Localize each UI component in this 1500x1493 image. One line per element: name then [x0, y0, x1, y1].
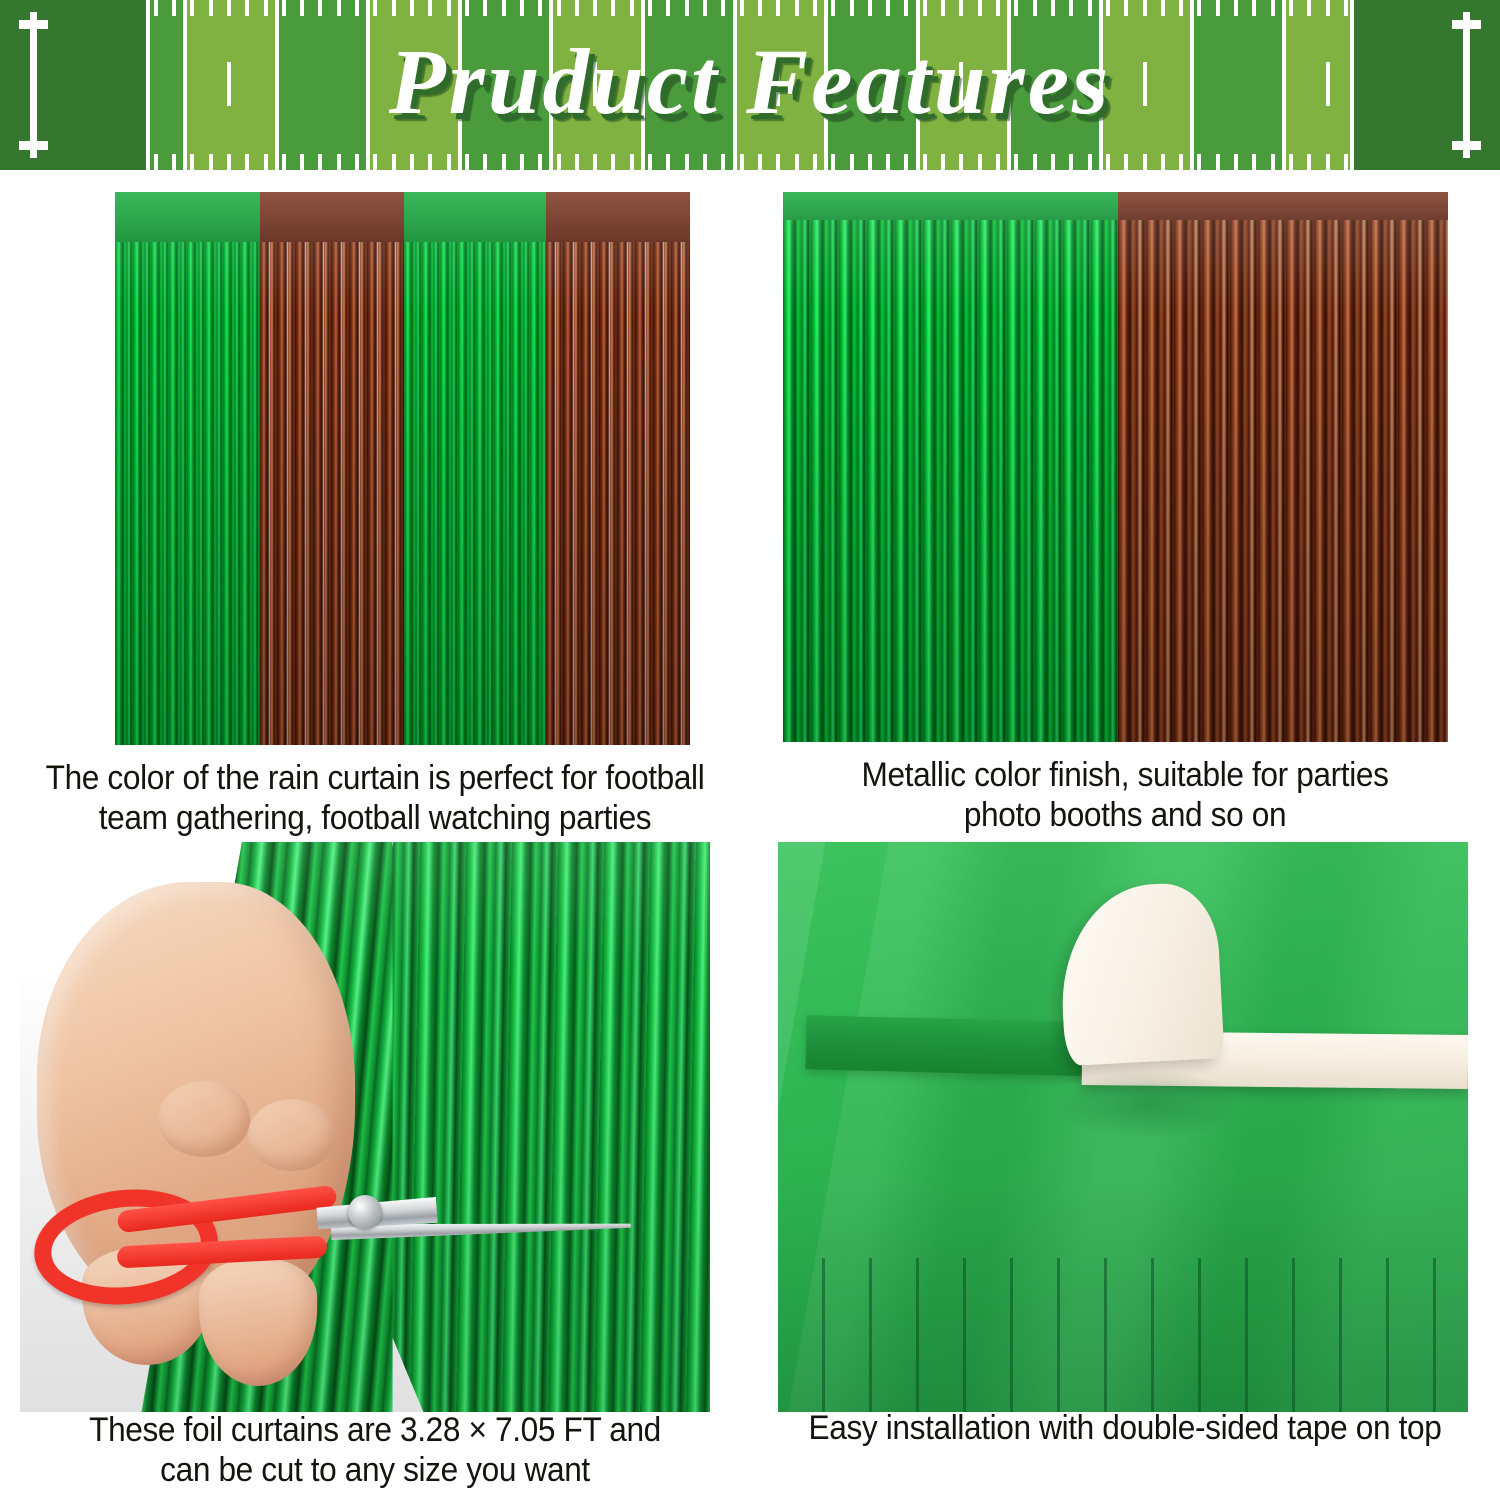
tape-shadow: [1054, 1070, 1244, 1140]
fringe-header-strip: [546, 192, 690, 242]
knuckle: [248, 1099, 336, 1171]
fringe-strips: [783, 192, 1118, 742]
fringe-header-strip: [1118, 192, 1448, 220]
fringe-strips: [1118, 192, 1448, 742]
fringe-header-strip: [404, 192, 545, 242]
feature-cell-3: These foil curtains are 3.28 × 7.05 FT a…: [0, 830, 750, 1493]
fringe-header-strip: [115, 192, 260, 242]
fringe-panel-brown: [1118, 192, 1448, 742]
foil-fringe-cut-lines: [778, 1258, 1468, 1412]
scissors-cutting-foil-photo: [20, 842, 710, 1412]
foil-curtain-closeup-photo: [783, 192, 1448, 742]
fringe-strips: [404, 192, 545, 745]
fringe-panel-green: [115, 192, 260, 745]
fringe-panel-green: [404, 192, 545, 745]
fringe-panel-green: [783, 192, 1118, 742]
knuckle: [158, 1081, 250, 1157]
scissors-pivot-screw: [348, 1195, 382, 1229]
feature-cell-2: Metallic color finish, suitable for part…: [750, 170, 1500, 830]
double-sided-tape-photo: [778, 842, 1468, 1412]
foil-curtain-four-panels-photo: [115, 192, 690, 745]
feature-caption-4: Easy installation with double-sided tape…: [776, 1408, 1474, 1448]
fringe-panel-brown: [546, 192, 690, 745]
fringe-strips: [115, 192, 260, 745]
fringe-strips: [546, 192, 690, 745]
product-features-banner: Pruduct Features: [0, 0, 1500, 170]
fringe-header-strip: [783, 192, 1118, 220]
foil-fringe-graphic: [115, 192, 690, 745]
feature-caption-1: The color of the rain curtain is perfect…: [26, 758, 724, 838]
fringe-panel-brown: [260, 192, 404, 745]
feature-caption-3: These foil curtains are 3.28 × 7.05 FT a…: [26, 1410, 724, 1490]
page-title: Pruduct Features: [0, 0, 1500, 170]
feature-cell-4: Easy installation with double-sided tape…: [750, 830, 1500, 1493]
feature-caption-2: Metallic color finish, suitable for part…: [776, 755, 1474, 835]
fringe-strips: [260, 192, 404, 745]
fringe-header-strip: [260, 192, 404, 242]
feature-cell-1: The color of the rain curtain is perfect…: [0, 170, 750, 830]
foil-fringe-graphic: [783, 192, 1448, 742]
